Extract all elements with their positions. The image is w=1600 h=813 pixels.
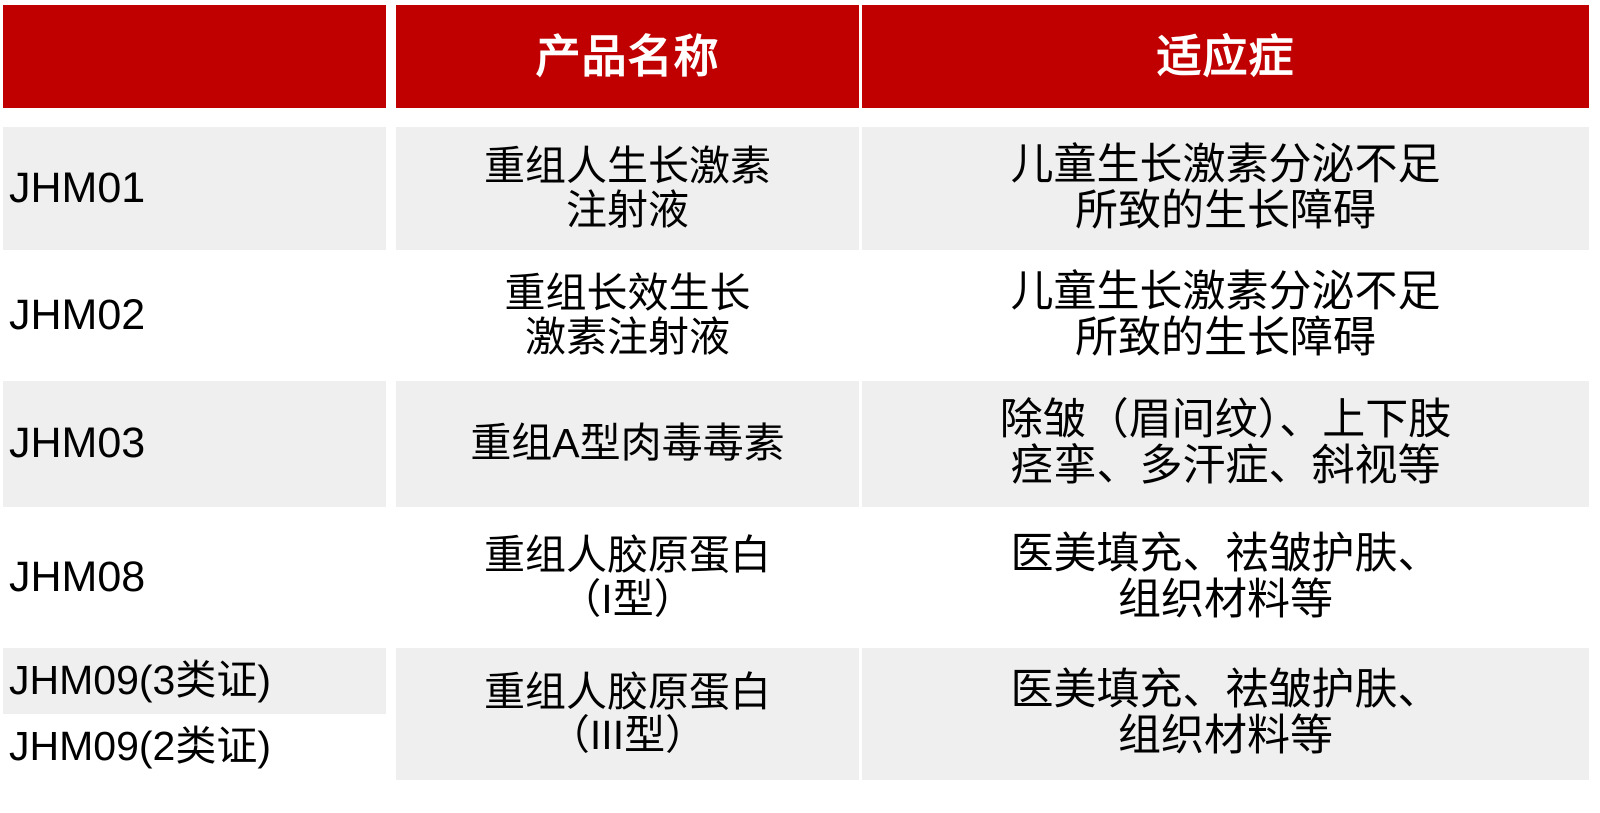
product-pipeline-table: 产品名称 适应症 JHM01 重组人生长激素 注射液 儿童生长激素分泌不足 所致…: [3, 5, 1589, 780]
table-row-indication-jhm03: 除皱（眉间纹）、上下肢 痉挛、多汗症、斜视等: [862, 381, 1589, 507]
table-row-code-jhm09-class2: JHM09(2类证): [3, 714, 386, 780]
table-row-product-name-jhm09: 重组人胶原蛋白 （III型）: [396, 648, 859, 780]
table-row-product-name-jhm08: 重组人胶原蛋白 （I型）: [396, 507, 859, 648]
table-row-indication-jhm08: 医美填充、祛皱护肤、 组织材料等: [862, 507, 1589, 648]
header-cell-product-name: 产品名称: [396, 5, 859, 108]
table-row-product-name-jhm03: 重组A型肉毒毒素: [396, 381, 859, 507]
table-row-product-name-jhm01: 重组人生长激素 注射液: [396, 127, 859, 250]
table-row-indication-jhm09: 医美填充、祛皱护肤、 组织材料等: [862, 648, 1589, 780]
table-row-code-jhm08: JHM08: [3, 507, 386, 648]
table-row-indication-jhm02: 儿童生长激素分泌不足 所致的生长障碍: [862, 250, 1589, 381]
table-row-code-jhm03: JHM03: [3, 381, 386, 507]
table-row-code-jhm09-class3: JHM09(3类证): [3, 648, 386, 714]
table-row-indication-jhm01: 儿童生长激素分泌不足 所致的生长障碍: [862, 127, 1589, 250]
table-row-code-jhm01: JHM01: [3, 127, 386, 250]
header-cell-indication: 适应症: [862, 5, 1589, 108]
table-row-code-jhm02: JHM02: [3, 250, 386, 381]
header-cell-code: [3, 5, 386, 108]
table-row-product-name-jhm02: 重组长效生长 激素注射液: [396, 250, 859, 381]
